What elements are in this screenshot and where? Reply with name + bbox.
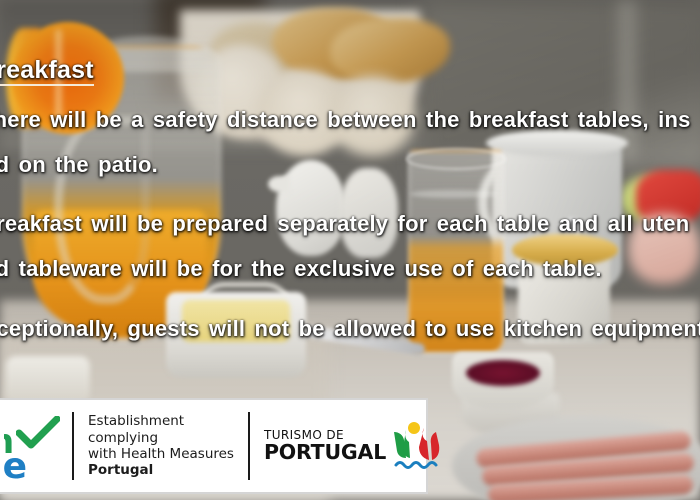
establishment-line-3: with Health Measures [88, 446, 234, 462]
establishment-line-4: Portugal [88, 462, 234, 478]
slide-title: Breakfast [0, 57, 94, 86]
body-line-4: nd tableware will be for the exclusive u… [0, 256, 602, 282]
body-line-3: Breakfast will be prepared separately fo… [0, 211, 689, 237]
turismo-de-portugal-logo: TURISMO DE PORTUGAL [264, 420, 442, 472]
body-line-2: nd on the patio. [0, 152, 158, 178]
checkmark-icon [16, 416, 60, 450]
establishment-text: Establishment complying with Health Meas… [88, 413, 234, 479]
establishment-line-2: complying [88, 430, 234, 446]
turismo-line-2: PORTUGAL [264, 442, 386, 464]
establishment-line-1: Establishment [88, 413, 234, 429]
body-line-1: There will be a safety distance between … [0, 107, 691, 133]
logo-divider-2 [248, 412, 250, 480]
clean-and-safe-logo: n fe [4, 410, 66, 482]
certification-logo-bar: n fe Establishment complying with Health… [0, 398, 428, 494]
clean-safe-blue-text: fe [4, 446, 26, 482]
turismo-wordmark: TURISMO DE PORTUGAL [264, 429, 386, 463]
turismo-portugal-mark-icon [390, 420, 442, 472]
slide-canvas: Breakfast There will be a safety distanc… [0, 0, 700, 500]
logo-divider-1 [72, 412, 74, 480]
body-line-5: xceptionally, guests will not be allowed… [0, 316, 700, 342]
